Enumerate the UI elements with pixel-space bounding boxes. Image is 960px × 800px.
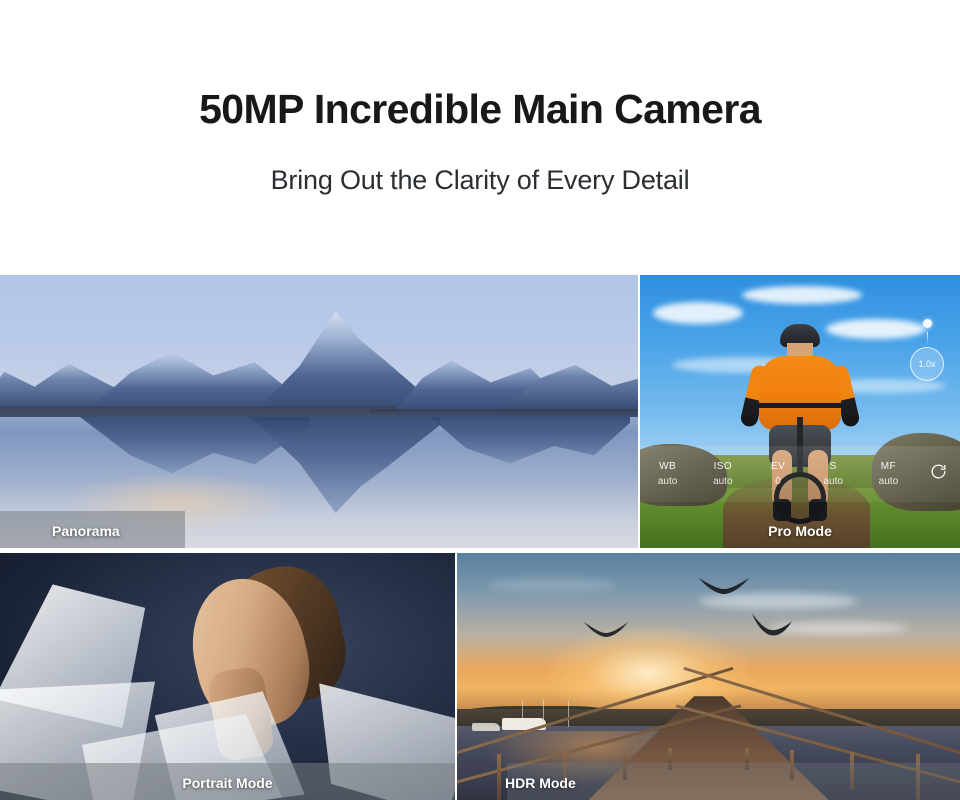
panorama-caption: Panorama xyxy=(52,523,120,539)
pro-control-shutter-value: auto xyxy=(806,474,861,489)
gallery-tile-hdr-mode[interactable]: HDR Mode xyxy=(457,553,960,800)
hdr-cloud-3 xyxy=(487,578,617,592)
camera-mode-gallery: Panorama xyxy=(0,275,960,800)
pro-control-wb-label: WB xyxy=(640,459,695,474)
pro-control-wb[interactable]: WB auto xyxy=(640,459,695,489)
pro-control-wb-value: auto xyxy=(640,474,695,489)
gallery-tile-panorama[interactable]: Panorama xyxy=(0,275,638,548)
hdr-caption: HDR Mode xyxy=(505,775,576,791)
pier-post-l1 xyxy=(497,754,501,800)
pro-control-ev[interactable]: EV 0 xyxy=(750,459,805,489)
zoom-slider-handle[interactable] xyxy=(923,319,932,328)
pro-mode-control-bar: WB auto ISO auto EV 0 S auto MF auto xyxy=(640,446,960,502)
zoom-level-badge[interactable]: 1.0x xyxy=(910,347,944,381)
refresh-icon xyxy=(929,462,948,486)
portrait-caption: Portrait Mode xyxy=(0,775,455,791)
pro-control-ev-label: EV xyxy=(750,459,805,474)
pro-control-shutter-label: S xyxy=(806,459,861,474)
pro-control-mf-value: auto xyxy=(861,474,916,489)
zoom-slider-track[interactable] xyxy=(927,332,928,344)
camera-feature-page: 50MP Incredible Main Camera Bring Out th… xyxy=(0,0,960,800)
pro-mode-photo xyxy=(640,275,960,548)
pro-control-iso-value: auto xyxy=(695,474,750,489)
seagull-3 xyxy=(749,612,793,640)
page-subtitle: Bring Out the Clarity of Every Detail xyxy=(0,165,960,196)
bicycle-handlebar xyxy=(752,403,848,408)
gallery-tile-portrait-mode[interactable]: Portrait Mode xyxy=(0,553,455,800)
seagull-1 xyxy=(698,575,750,597)
pro-control-reset[interactable] xyxy=(916,462,960,486)
seagull-2 xyxy=(583,620,629,640)
pro-control-iso[interactable]: ISO auto xyxy=(695,459,750,489)
harbour-mast-3 xyxy=(568,701,569,727)
pro-control-mf[interactable]: MF auto xyxy=(861,459,916,489)
harbour-boat-2 xyxy=(472,723,500,731)
pro-control-shutter[interactable]: S auto xyxy=(806,459,861,489)
panorama-photo xyxy=(0,275,638,548)
page-title: 50MP Incredible Main Camera xyxy=(0,86,960,133)
gallery-tile-pro-mode[interactable]: 1.0x WB auto ISO auto EV 0 S auto xyxy=(640,275,960,548)
zoom-control[interactable]: 1.0x xyxy=(910,319,944,381)
page-header: 50MP Incredible Main Camera Bring Out th… xyxy=(0,0,960,275)
cloud-2 xyxy=(742,286,862,304)
harbour-mast-1 xyxy=(522,701,523,727)
pro-control-iso-label: ISO xyxy=(695,459,750,474)
pro-mode-caption: Pro Mode xyxy=(640,523,960,539)
pro-control-mf-label: MF xyxy=(861,459,916,474)
pro-control-ev-value: 0 xyxy=(750,474,805,489)
